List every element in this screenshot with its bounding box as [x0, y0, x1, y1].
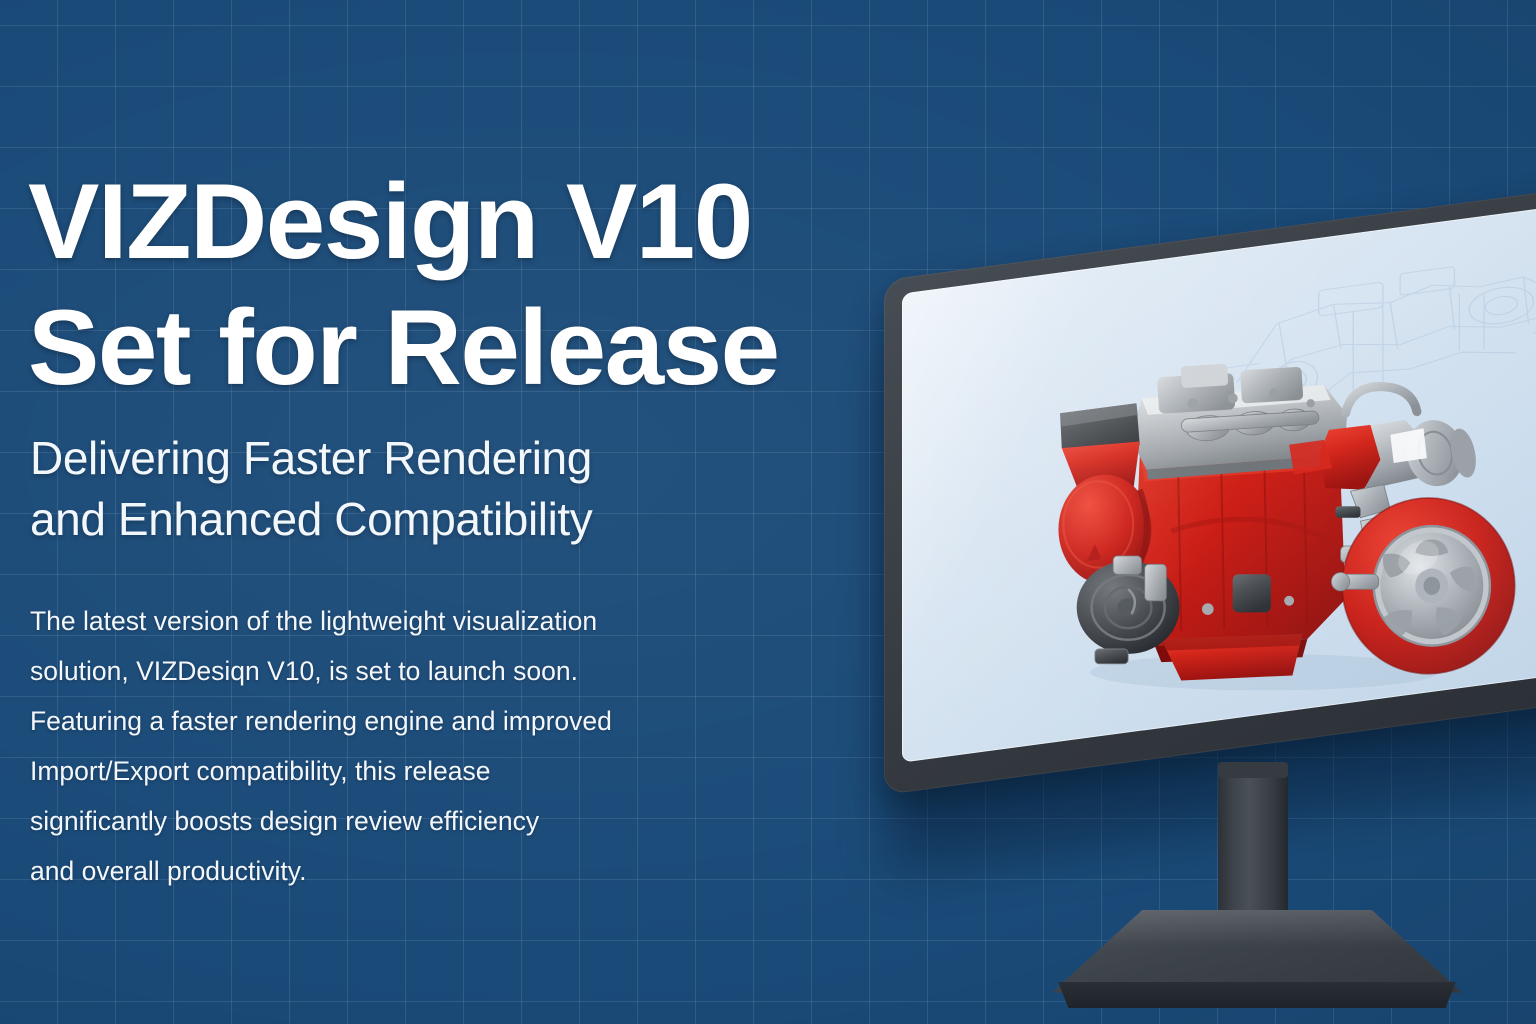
poster-canvas: VIZDesign V10 Set for Release Delivering…: [0, 0, 1536, 1024]
mount-bracket: [1232, 574, 1270, 612]
body-paragraph: The latest version of the lightweight vi…: [30, 596, 730, 896]
body-line-5: significantly boosts design review effic…: [30, 796, 730, 846]
monitor-stand-neck: [1218, 770, 1288, 925]
3d-cad-engine-render: [945, 282, 1536, 713]
headline-line-2: Set for Release: [28, 284, 808, 410]
monitor-screen: [902, 199, 1536, 763]
body-line-2: solution, VIZDesiqn V10, is set to launc…: [30, 646, 730, 696]
headline-line-1: VIZDesign V10: [28, 158, 808, 284]
engine-illustration: [945, 282, 1536, 713]
body-line-6: and overall productivity.: [30, 846, 730, 896]
page-title: VIZDesign V10 Set for Release: [28, 158, 808, 411]
subhead-line-1: Delivering Faster Rendering: [30, 428, 790, 489]
body-line-4: Import/Export compatibility, this releas…: [30, 746, 730, 796]
monitor-stand-base: [1052, 910, 1462, 1024]
text-column: VIZDesign V10 Set for Release Delivering…: [28, 0, 808, 1024]
body-line-3: Featuring a faster rendering engine and …: [30, 696, 730, 746]
stand-base-edge: [1052, 982, 1462, 1008]
desktop-monitor-icon: [862, 110, 1536, 970]
screen-content: [902, 199, 1536, 763]
subhead-line-2: and Enhanced Compatibility: [30, 489, 790, 550]
body-line-1: The latest version of the lightweight vi…: [30, 596, 730, 646]
monitor-bezel: [884, 181, 1536, 795]
page-subtitle: Delivering Faster Rendering and Enhanced…: [30, 428, 790, 550]
lift-handle: [1345, 386, 1416, 413]
